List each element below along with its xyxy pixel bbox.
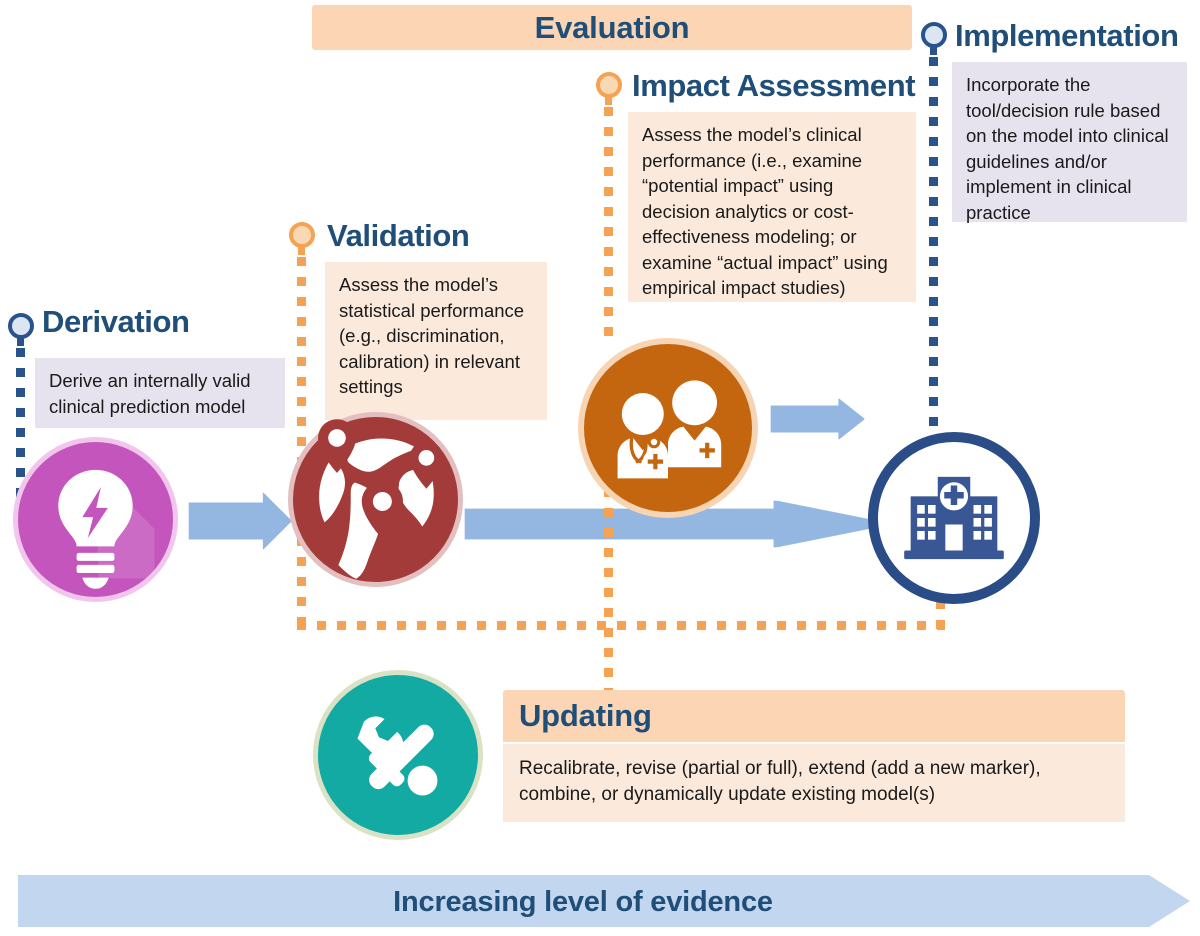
validation-description-box: Assess the model’s statistical performan… (325, 262, 547, 420)
clinicians-icon (584, 344, 752, 512)
impact-assessment-dotted-connector-lower (604, 468, 613, 693)
implementation-circle (868, 432, 1040, 604)
figure-canvas: Evaluation Derivation Derive an internal… (0, 0, 1200, 936)
impact-assessment-node-marker (596, 72, 622, 98)
hospital-icon (889, 453, 1019, 583)
implementation-title: Implementation (955, 20, 1178, 51)
lightbulb-icon (18, 437, 173, 602)
implementation-description-box: Incorporate the tool/decision rule based… (952, 62, 1187, 222)
validation-node-stem (298, 246, 305, 255)
impact-assessment-description-box: Assess the model’s clinical performance … (628, 112, 916, 302)
validation-node-marker (289, 222, 315, 248)
updating-circle (313, 670, 483, 840)
implementation-dotted-connector (929, 57, 938, 447)
impact-assessment-dotted-connector (604, 107, 613, 347)
updating-title: Updating (519, 698, 652, 734)
arrow-impact-to-implementation (770, 398, 865, 440)
derivation-node-marker (8, 313, 34, 339)
derivation-node-stem (17, 337, 24, 346)
implementation-node-stem (930, 46, 937, 55)
updating-description-box: Recalibrate, revise (partial or full), e… (503, 744, 1125, 822)
globe-pins-icon (293, 401, 458, 586)
derivation-description-box: Derive an internally valid clinical pred… (35, 358, 285, 428)
increasing-evidence-label: Increasing level of evidence (18, 886, 1148, 918)
map-pin-icon (318, 419, 356, 473)
validation-title: Validation (327, 220, 469, 251)
evaluation-band-label: Evaluation (312, 10, 912, 46)
derivation-title: Derivation (42, 306, 190, 337)
implementation-node-marker (921, 22, 947, 48)
derivation-circle (13, 437, 178, 602)
impact-assessment-node-stem (605, 96, 612, 105)
validation-circle (288, 412, 463, 587)
impact-assessment-title: Impact Assessment (632, 70, 915, 101)
tools-icon (334, 691, 462, 819)
arrow-derivation-to-validation (188, 492, 292, 550)
impact-assessment-circle (578, 338, 758, 518)
feedback-loop-horizontal-rail (297, 621, 945, 630)
